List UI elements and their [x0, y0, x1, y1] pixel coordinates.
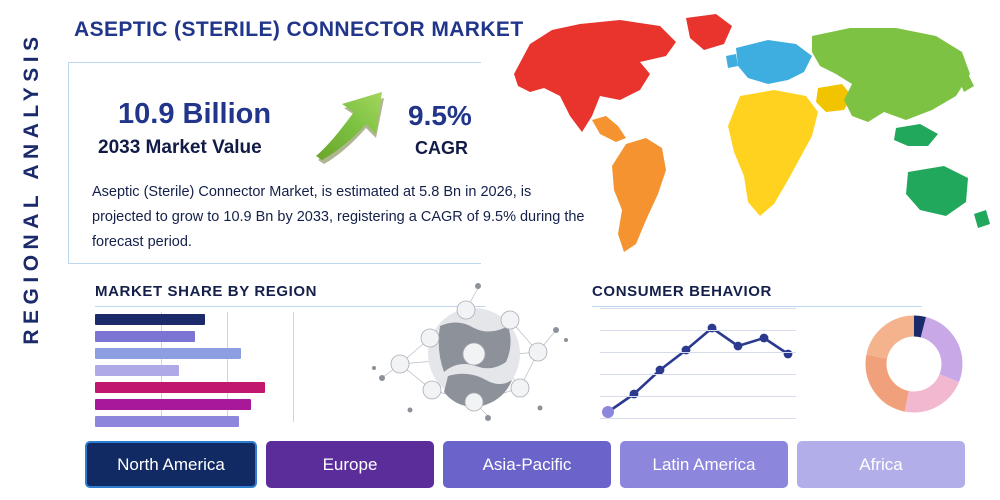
- side-label: REGIONAL ANALYSIS: [20, 8, 44, 368]
- market-value-caption: 2033 Market Value: [98, 137, 262, 159]
- bar-row: [95, 399, 251, 410]
- line-gridline: [600, 352, 796, 353]
- line-gridline: [600, 374, 796, 375]
- region-chip-label: North America: [117, 455, 225, 475]
- region-chip-europe[interactable]: Europe: [266, 441, 434, 488]
- bar-row: [95, 348, 241, 359]
- bar-row: [95, 331, 195, 342]
- line-series: [600, 308, 796, 420]
- region-chip-africa[interactable]: Africa: [797, 441, 965, 488]
- line-gridline: [600, 308, 796, 309]
- region-chip-latin-america[interactable]: Latin America: [620, 441, 788, 488]
- map-region-north-america: [514, 20, 676, 132]
- line-gridline: [600, 330, 796, 331]
- region-chip-label: Asia-Pacific: [483, 455, 572, 475]
- region-chip-label: Latin America: [653, 455, 756, 475]
- map-region-new-zealand: [974, 210, 990, 228]
- cagr-caption: CAGR: [415, 138, 468, 159]
- donut-chart: [860, 310, 968, 418]
- consumer-behavior-line-chart: [600, 308, 796, 420]
- market-share-bar-chart: [95, 312, 295, 422]
- map-region-greenland: [686, 14, 732, 50]
- map-region-south-america: [612, 138, 666, 252]
- growth-arrow-icon: [310, 86, 396, 164]
- bar-row: [95, 382, 265, 393]
- map-region-central-america: [592, 116, 626, 142]
- market-value: 10.9 Billion: [118, 98, 271, 131]
- map-region-africa: [728, 90, 818, 216]
- consumer-behavior-heading: CONSUMER BEHAVIOR: [592, 283, 922, 307]
- side-label-container: REGIONAL ANALYSIS: [0, 0, 62, 500]
- region-chip-north-america[interactable]: North America: [85, 441, 257, 488]
- region-chip-asia-pacific[interactable]: Asia-Pacific: [443, 441, 611, 488]
- map-region-southeast-asia: [894, 124, 938, 146]
- bar-row: [95, 416, 239, 427]
- region-chip-label: Africa: [859, 455, 902, 475]
- region-chip-label: Europe: [323, 455, 378, 475]
- region-chip-row: North America Europe Asia-Pacific Latin …: [85, 441, 965, 488]
- page-title: ASEPTIC (STERILE) CONNECTOR MARKET: [74, 18, 524, 42]
- bar-row: [95, 365, 179, 376]
- description-text: Aseptic (Sterile) Connector Market, is e…: [92, 180, 592, 255]
- bar-row: [95, 314, 205, 325]
- global-network-icon: [370, 268, 585, 428]
- map-region-uk: [726, 54, 738, 68]
- line-gridline: [600, 418, 796, 419]
- map-region-europe: [736, 40, 812, 84]
- cagr-value: 9.5%: [408, 100, 472, 132]
- line-gridline: [600, 396, 796, 397]
- line-point-first: [602, 406, 614, 418]
- bar-gridline: [293, 312, 294, 422]
- map-region-oceania: [906, 166, 968, 216]
